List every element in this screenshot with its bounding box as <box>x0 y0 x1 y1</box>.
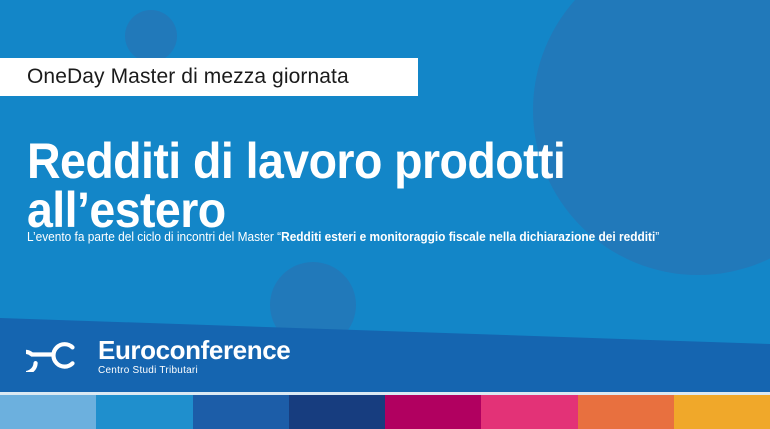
event-promo-banner: OneDay Master di mezza giornata Redditi … <box>0 0 770 429</box>
logo-brand-name: Euroconference <box>98 337 290 363</box>
subtitle-master-title: Redditi esteri e monitoraggio fiscale ne… <box>281 230 655 244</box>
euroconference-logo: Euroconference Centro Studi Tributari <box>26 336 290 377</box>
color-swatch-pink <box>481 395 577 429</box>
logo-text: Euroconference Centro Studi Tributari <box>98 337 290 376</box>
eyebrow-banner: OneDay Master di mezza giornata <box>0 58 418 96</box>
logo-tagline: Centro Studi Tributari <box>98 366 290 376</box>
color-swatch-amber <box>674 395 770 429</box>
color-swatch-orange <box>578 395 674 429</box>
subtitle-trail: ” <box>655 230 659 244</box>
color-swatch-light-blue <box>0 395 96 429</box>
subtitle-lead: L’evento fa parte del ciclo di incontri … <box>27 230 281 244</box>
page-title: Redditi di lavoro prodotti all’estero <box>27 137 622 235</box>
brand-color-strip <box>0 395 770 429</box>
decorative-circle-small <box>125 10 177 62</box>
eyebrow-label: OneDay Master di mezza giornata <box>0 65 349 89</box>
color-swatch-medium-blue <box>193 395 289 429</box>
ec-monogram-icon <box>26 336 88 377</box>
color-swatch-navy <box>289 395 385 429</box>
color-swatch-magenta <box>385 395 481 429</box>
subtitle: L’evento fa parte del ciclo di incontri … <box>27 228 703 246</box>
color-swatch-blue <box>96 395 192 429</box>
